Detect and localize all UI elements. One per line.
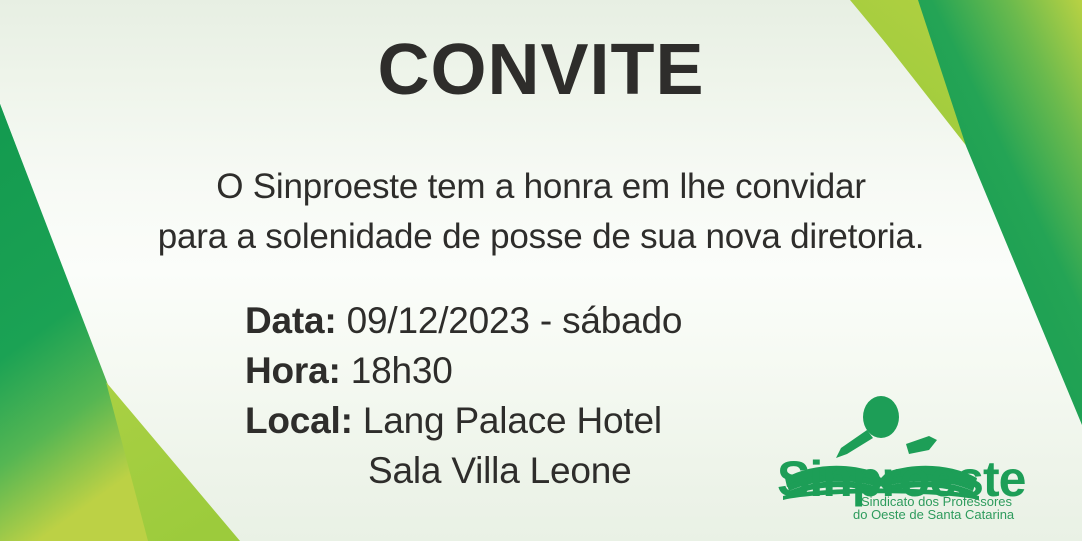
detail-value-hora: 18h30 xyxy=(351,350,453,391)
detail-row-local: Local: Lang Palace Hotel xyxy=(245,396,682,446)
detail-value-local-room: Sala Villa Leone xyxy=(368,450,632,491)
detail-separator-data: : xyxy=(324,300,336,341)
detail-label-data: Data xyxy=(245,300,324,341)
sinproeste-logo: Sinproeste Sindicato dos Professores do … xyxy=(775,392,1025,520)
detail-separator-local: : xyxy=(341,400,353,441)
detail-value-data: 09/12/2023 - sábado xyxy=(347,300,683,341)
page-title: CONVITE xyxy=(0,34,1082,106)
detail-row-hora: Hora: 18h30 xyxy=(245,346,682,396)
detail-value-local: Lang Palace Hotel xyxy=(363,400,662,441)
detail-label-hora: Hora xyxy=(245,350,329,391)
event-details: Data: 09/12/2023 - sábado Hora: 18h30 Lo… xyxy=(245,296,682,496)
intro-paragraph: O Sinproeste tem a honra em lhe convidar… xyxy=(0,162,1082,262)
intro-line-2: para a solenidade de posse de sua nova d… xyxy=(0,212,1082,262)
detail-row-local-room: Sala Villa Leone xyxy=(245,446,682,496)
detail-label-local: Local xyxy=(245,400,341,441)
detail-row-data: Data: 09/12/2023 - sábado xyxy=(245,296,682,346)
logo-svg: Sinproeste Sindicato dos Professores do … xyxy=(775,392,1025,520)
intro-line-1: O Sinproeste tem a honra em lhe convidar xyxy=(0,162,1082,212)
detail-separator-hora: : xyxy=(329,350,341,391)
logo-tagline-line-2: do Oeste de Santa Catarina xyxy=(853,507,1015,520)
invitation-card: CONVITE O Sinproeste tem a honra em lhe … xyxy=(0,0,1082,541)
